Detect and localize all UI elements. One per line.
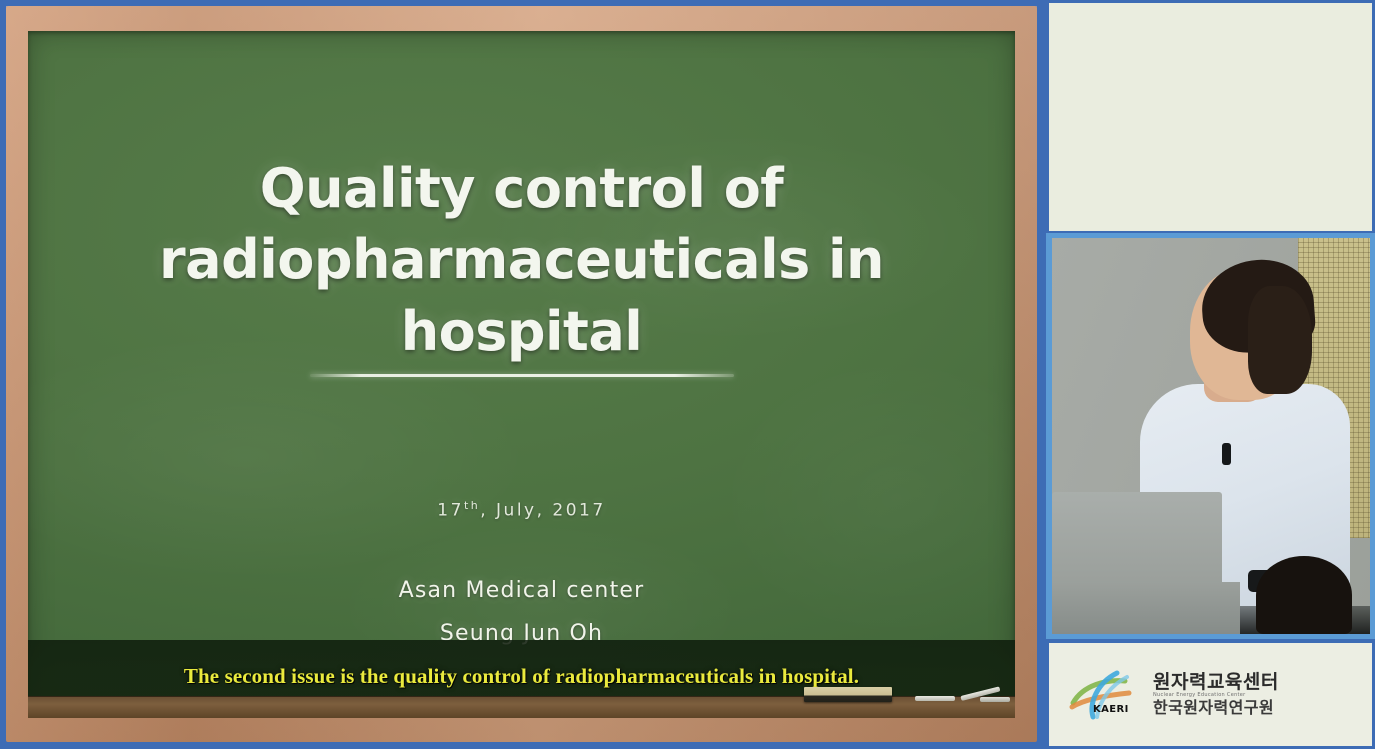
logo-korean-main: 원자력교육센터: [1153, 673, 1279, 692]
slide-pane[interactable]: Quality control of radiopharmaceuticals …: [0, 0, 1046, 749]
slide-date-ordinal: th: [464, 499, 480, 512]
slide-date: 17th, July, 2017: [58, 499, 985, 521]
kaeri-acronym: KAERI: [1093, 704, 1129, 715]
video-speaker-hair-back: [1248, 286, 1312, 394]
slide-date-day: 17: [437, 500, 464, 520]
logo-text-block: 원자력교육센터 Nuclear Energy Education Center …: [1153, 673, 1279, 716]
eraser-icon: [804, 687, 892, 702]
title-underline: [310, 374, 734, 377]
video-lapel-mic-icon: [1222, 443, 1231, 465]
chalkboard-wooden-frame: Quality control of radiopharmaceuticals …: [6, 6, 1037, 742]
chalk-stick-icon: [915, 696, 955, 701]
slide-title: Quality control of radiopharmaceuticals …: [58, 153, 985, 367]
kaeri-atom-icon: KAERI: [1067, 669, 1143, 721]
logo-korean-sub: 한국원자력연구원: [1153, 700, 1279, 716]
video-audience-head: [1256, 556, 1352, 634]
slide-title-line-3: hospital: [401, 300, 643, 363]
slide-organization: Asan Medical center: [58, 578, 985, 603]
slide-date-rest: , July, 2017: [480, 500, 605, 520]
speaker-video-panel[interactable]: [1046, 233, 1375, 639]
chalk-stick-icon: [980, 697, 1010, 702]
chalkboard-surface: Quality control of radiopharmaceuticals …: [28, 31, 1015, 718]
slide-title-line-3-wrap: hospital: [128, 296, 915, 367]
slide-content: Quality control of radiopharmaceuticals …: [28, 31, 1015, 646]
blank-upper-panel: [1049, 3, 1372, 231]
organization-logo-panel: KAERI 원자력교육센터 Nuclear Energy Education C…: [1049, 643, 1372, 746]
lecture-recording-screen: Quality control of radiopharmaceuticals …: [0, 0, 1375, 749]
video-laptop-base: [1052, 582, 1240, 634]
slide-title-line-2: radiopharmaceuticals in: [159, 228, 884, 291]
slide-title-line-1: Quality control of: [260, 157, 784, 220]
right-column: KAERI 원자력교육센터 Nuclear Energy Education C…: [1046, 0, 1375, 749]
speaker-video-frame: [1052, 238, 1370, 634]
subtitle-text: The second issue is the quality control …: [184, 664, 859, 689]
